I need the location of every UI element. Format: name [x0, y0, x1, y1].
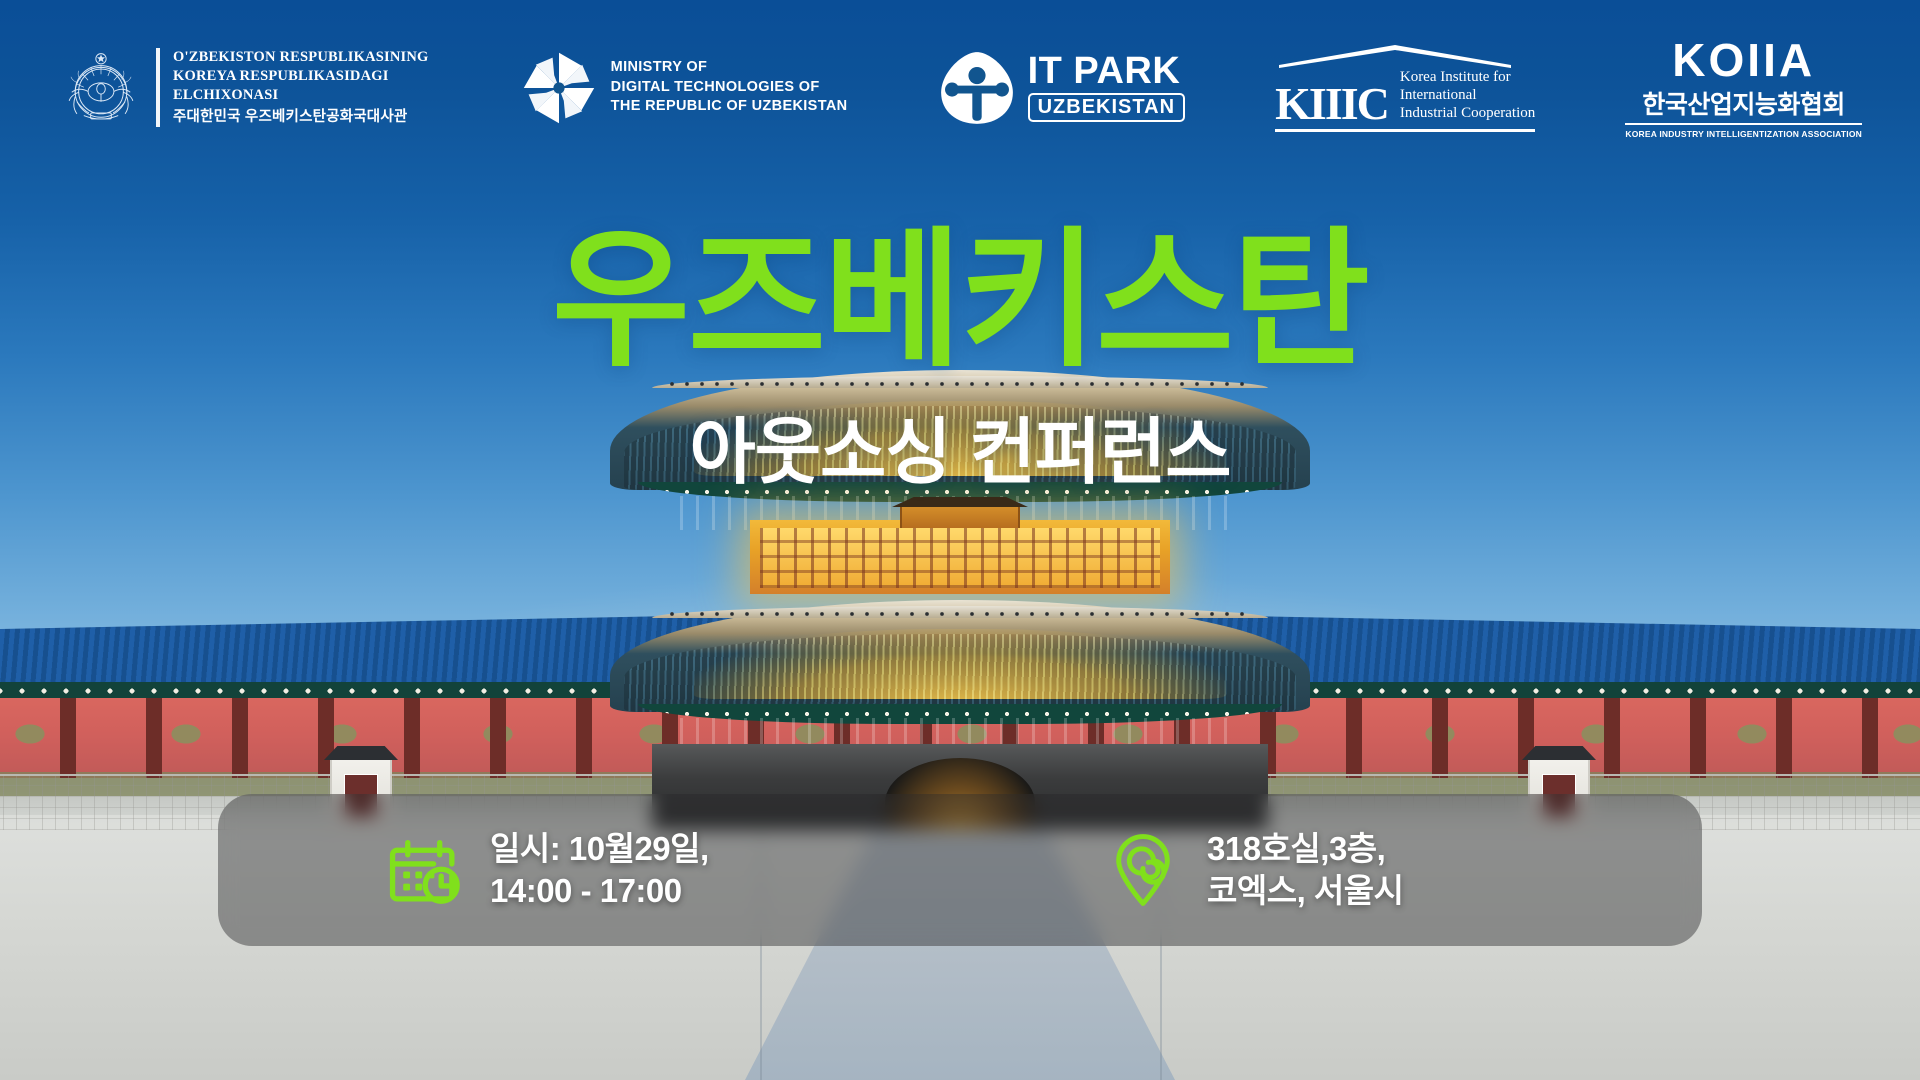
gate-lower-roof — [610, 600, 1310, 712]
poster-title-block: 우즈베키스탄 아웃소싱 컨퍼런스 — [0, 225, 1920, 498]
map-pin-spiral-icon — [1105, 832, 1181, 908]
koiia-korean-name: 한국산업지능화협회 — [1625, 85, 1862, 125]
page-subtitle: 아웃소싱 컨퍼런스 — [0, 393, 1920, 498]
it-park-name: IT PARK — [1028, 53, 1185, 89]
gate-upper-body — [750, 520, 1170, 594]
ministry-pinwheel-logo-icon — [519, 48, 599, 128]
uzbekistan-state-emblem-icon — [58, 45, 144, 131]
koiia-english-name: KOREA INDUSTRY INTELLIGENTIZATION ASSOCI… — [1625, 129, 1862, 139]
calendar-clock-icon — [388, 832, 464, 908]
gate-lower-roof-figurines — [666, 602, 1254, 618]
ministry-line-3: THE REPUBLIC OF UZBEKISTAN — [611, 97, 848, 116]
kiic-letters: KIIIC — [1275, 83, 1388, 125]
logo-ministry-digital-technologies[interactable]: MINISTRY OF DIGITAL TECHNOLOGIES OF THE … — [519, 48, 848, 128]
kiic-line-3: Industrial Cooperation — [1400, 105, 1535, 123]
page-title: 우즈베키스탄 — [0, 225, 1920, 375]
sponsor-logo-bar: O'ZBEKISTON RESPUBLIKASINING KOREYA RESP… — [0, 0, 1920, 175]
ministry-line-2: DIGITAL TECHNOLOGIES OF — [611, 78, 848, 97]
ministry-line-1: MINISTRY OF — [611, 58, 848, 77]
kiic-logo-group: KIIIC Korea Institute for International … — [1275, 43, 1535, 131]
event-location-line-1: 318호실,3층, — [1207, 828, 1404, 870]
koiia-name: KOIIA — [1625, 37, 1862, 83]
embassy-line-1: O'ZBEKISTON RESPUBLIKASINING — [173, 48, 429, 67]
it-park-figure-logo-icon — [938, 49, 1016, 127]
event-date-line-2: 14:00 - 17:00 — [490, 870, 709, 912]
embassy-korean-line: 주대한민국 우즈베키스탄공화국대사관 — [173, 108, 429, 127]
event-date-line-1: 일시: 10월29일, — [490, 828, 709, 870]
event-poster: O'ZBEKISTON RESPUBLIKASINING KOREYA RESP… — [0, 0, 1920, 1080]
event-location-text: 318호실,3층, 코엑스, 서울시 — [1207, 828, 1404, 912]
kiic-description: Korea Institute for International Indust… — [1400, 69, 1535, 125]
kiic-line-2: International — [1400, 87, 1535, 105]
it-park-country-badge: UZBEKISTAN — [1028, 93, 1185, 122]
event-date-item: 일시: 10월29일, 14:00 - 17:00 — [218, 828, 985, 912]
kiic-line-1: Korea Institute for — [1400, 69, 1535, 87]
event-info-bar: 일시: 10월29일, 14:00 - 17:00 318호실,3층, 코엑스,… — [218, 794, 1702, 946]
gate-lower-roof-tiles — [624, 634, 1296, 712]
logo-it-park[interactable]: IT PARK UZBEKISTAN — [938, 49, 1185, 127]
kiic-pediment-logo-icon — [1275, 43, 1515, 69]
logo-kiic[interactable]: KIIIC Korea Institute for International … — [1275, 43, 1535, 131]
gate-upper-lattice — [760, 528, 1160, 588]
it-park-text-block: IT PARK UZBEKISTAN — [1028, 53, 1185, 122]
event-location-item: 318호실,3층, 코엑스, 서울시 — [985, 828, 1702, 912]
gate-lower-tier — [610, 600, 1310, 712]
event-date-text: 일시: 10월29일, 14:00 - 17:00 — [490, 828, 709, 912]
embassy-line-3: ELCHIXONASI — [173, 86, 429, 105]
ministry-text-block: MINISTRY OF DIGITAL TECHNOLOGIES OF THE … — [611, 58, 848, 116]
logo-koiia[interactable]: KOIIA 한국산업지능화협회 KOREA INDUSTRY INTELLIGE… — [1625, 37, 1862, 139]
kiic-row: KIIIC Korea Institute for International … — [1275, 69, 1535, 131]
embassy-line-2: KOREYA RESPUBLIKASIDAGI — [173, 67, 429, 86]
koiia-text-block: KOIIA 한국산업지능화협회 KOREA INDUSTRY INTELLIGE… — [1625, 37, 1862, 139]
gate-name-plaque — [900, 504, 1020, 530]
event-location-line-2: 코엑스, 서울시 — [1207, 870, 1404, 912]
embassy-text-block: O'ZBEKISTON RESPUBLIKASINING KOREYA RESP… — [156, 48, 429, 126]
logo-embassy[interactable]: O'ZBEKISTON RESPUBLIKASINING KOREYA RESP… — [58, 45, 429, 131]
